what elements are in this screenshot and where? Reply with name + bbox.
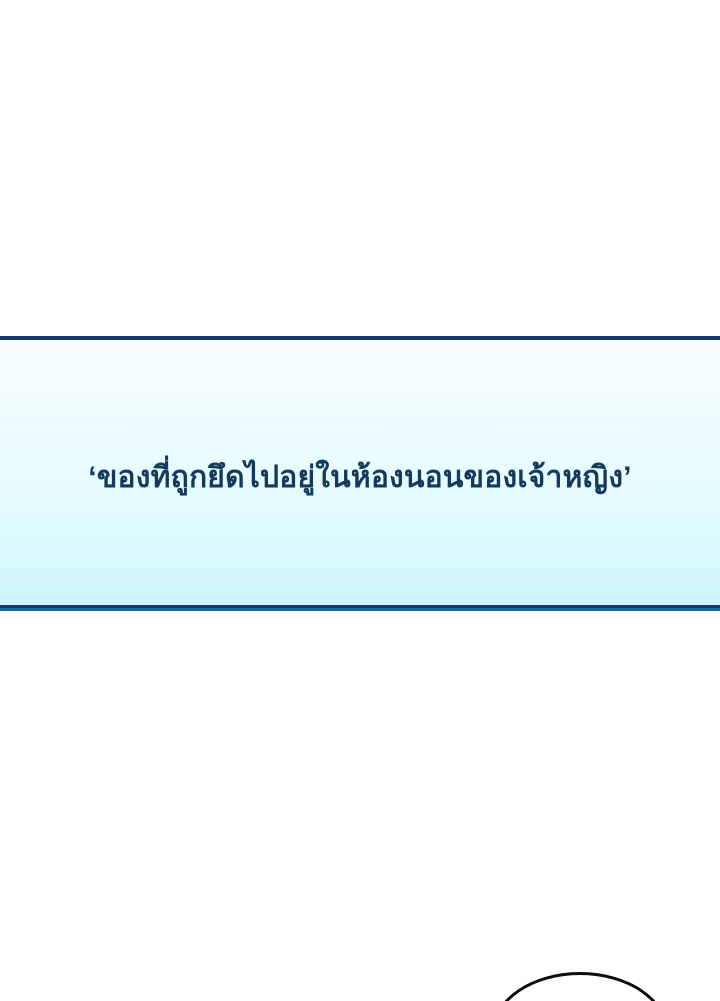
comic-page: ‘ของที่ถูกยึดไปอยู่ในห้องนอนของเจ้าหญิง’ — [0, 0, 720, 1001]
panel-gutter-bottom — [0, 611, 720, 1001]
panel-gutter-top — [0, 0, 720, 336]
narration-band: ‘ของที่ถูกยึดไปอยู่ในห้องนอนของเจ้าหญิง’ — [0, 336, 720, 608]
narration-text: ‘ของที่ถูกยึดไปอยู่ในห้องนอนของเจ้าหญิง’ — [0, 458, 720, 499]
